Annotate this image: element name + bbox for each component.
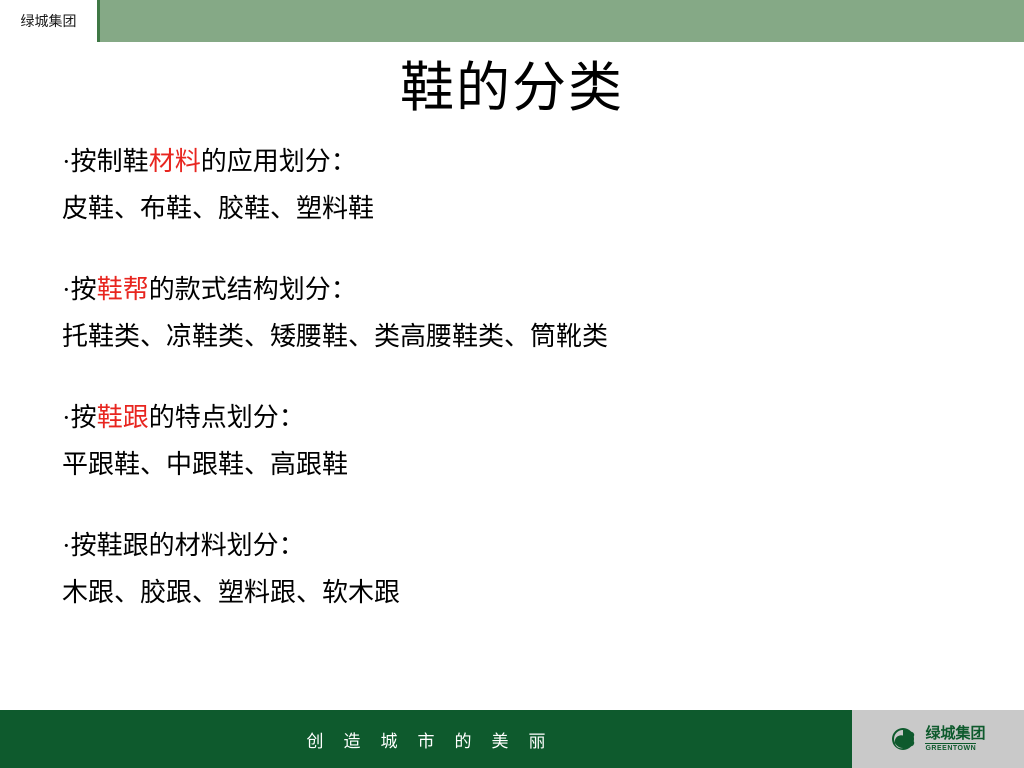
company-logo: 绿城集团 GREENTOWN bbox=[890, 724, 985, 754]
heading-post: 的款式结构划分： bbox=[149, 275, 357, 304]
logo-text: 绿城集团 GREENTOWN bbox=[925, 726, 985, 752]
heading-post: 的应用划分： bbox=[201, 147, 357, 176]
block-text: 皮鞋、布鞋、胶鞋、塑料鞋 bbox=[62, 185, 962, 232]
block-heading: ·按鞋跟的特点划分： bbox=[62, 394, 962, 441]
block-heading: ·按鞋跟的材料划分： bbox=[62, 522, 962, 569]
logo-english-name: GREENTOWN bbox=[925, 743, 976, 752]
heading-post: 的特点划分： bbox=[149, 403, 305, 432]
footer: 创造城市的美丽 绿城集团 GREENTOWN bbox=[0, 710, 1024, 768]
block-text: 托鞋类、凉鞋类、矮腰鞋、类高腰鞋类、筒靴类 bbox=[62, 313, 962, 360]
brand-box: 绿城集团 bbox=[0, 0, 100, 42]
content-body: ·按制鞋材料的应用划分： 皮鞋、布鞋、胶鞋、塑料鞋 ·按鞋帮的款式结构划分： 托… bbox=[62, 138, 962, 616]
bullet-icon: · bbox=[62, 531, 71, 560]
heading-pre: 按制鞋 bbox=[71, 147, 149, 176]
block-text: 木跟、胶跟、塑料跟、软木跟 bbox=[62, 569, 962, 616]
bullet-icon: · bbox=[62, 403, 71, 432]
brand-label: 绿城集团 bbox=[21, 11, 77, 31]
bullet-icon: · bbox=[62, 275, 71, 304]
heading-highlight: 材料 bbox=[149, 147, 201, 176]
page-title: 鞋的分类 bbox=[0, 56, 1024, 120]
block-heading: ·按鞋帮的款式结构划分： bbox=[62, 266, 962, 313]
footer-slogan-area: 创造城市的美丽 bbox=[0, 710, 852, 768]
content-block: ·按鞋帮的款式结构划分： 托鞋类、凉鞋类、矮腰鞋、类高腰鞋类、筒靴类 bbox=[62, 266, 962, 360]
content-block: ·按鞋跟的特点划分： 平跟鞋、中跟鞋、高跟鞋 bbox=[62, 394, 962, 488]
bullet-icon: · bbox=[62, 147, 71, 176]
greentown-logo-icon bbox=[890, 724, 920, 754]
content-block: ·按制鞋材料的应用划分： 皮鞋、布鞋、胶鞋、塑料鞋 bbox=[62, 138, 962, 232]
block-text: 平跟鞋、中跟鞋、高跟鞋 bbox=[62, 441, 962, 488]
heading-pre: 按鞋跟的材料划分： bbox=[71, 531, 305, 560]
footer-logo-area: 绿城集团 GREENTOWN bbox=[852, 710, 1024, 768]
heading-pre: 按 bbox=[71, 275, 97, 304]
slide: 绿城集团 鞋的分类 ·按制鞋材料的应用划分： 皮鞋、布鞋、胶鞋、塑料鞋 ·按鞋帮… bbox=[0, 0, 1024, 768]
top-banner: 绿城集团 bbox=[0, 0, 1024, 42]
heading-pre: 按 bbox=[71, 403, 97, 432]
block-heading: ·按制鞋材料的应用划分： bbox=[62, 138, 962, 185]
heading-highlight: 鞋跟 bbox=[97, 403, 149, 432]
content-block: ·按鞋跟的材料划分： 木跟、胶跟、塑料跟、软木跟 bbox=[62, 522, 962, 616]
logo-chinese-name: 绿城集团 bbox=[925, 726, 985, 741]
footer-slogan: 创造城市的美丽 bbox=[287, 727, 566, 752]
heading-highlight: 鞋帮 bbox=[97, 275, 149, 304]
